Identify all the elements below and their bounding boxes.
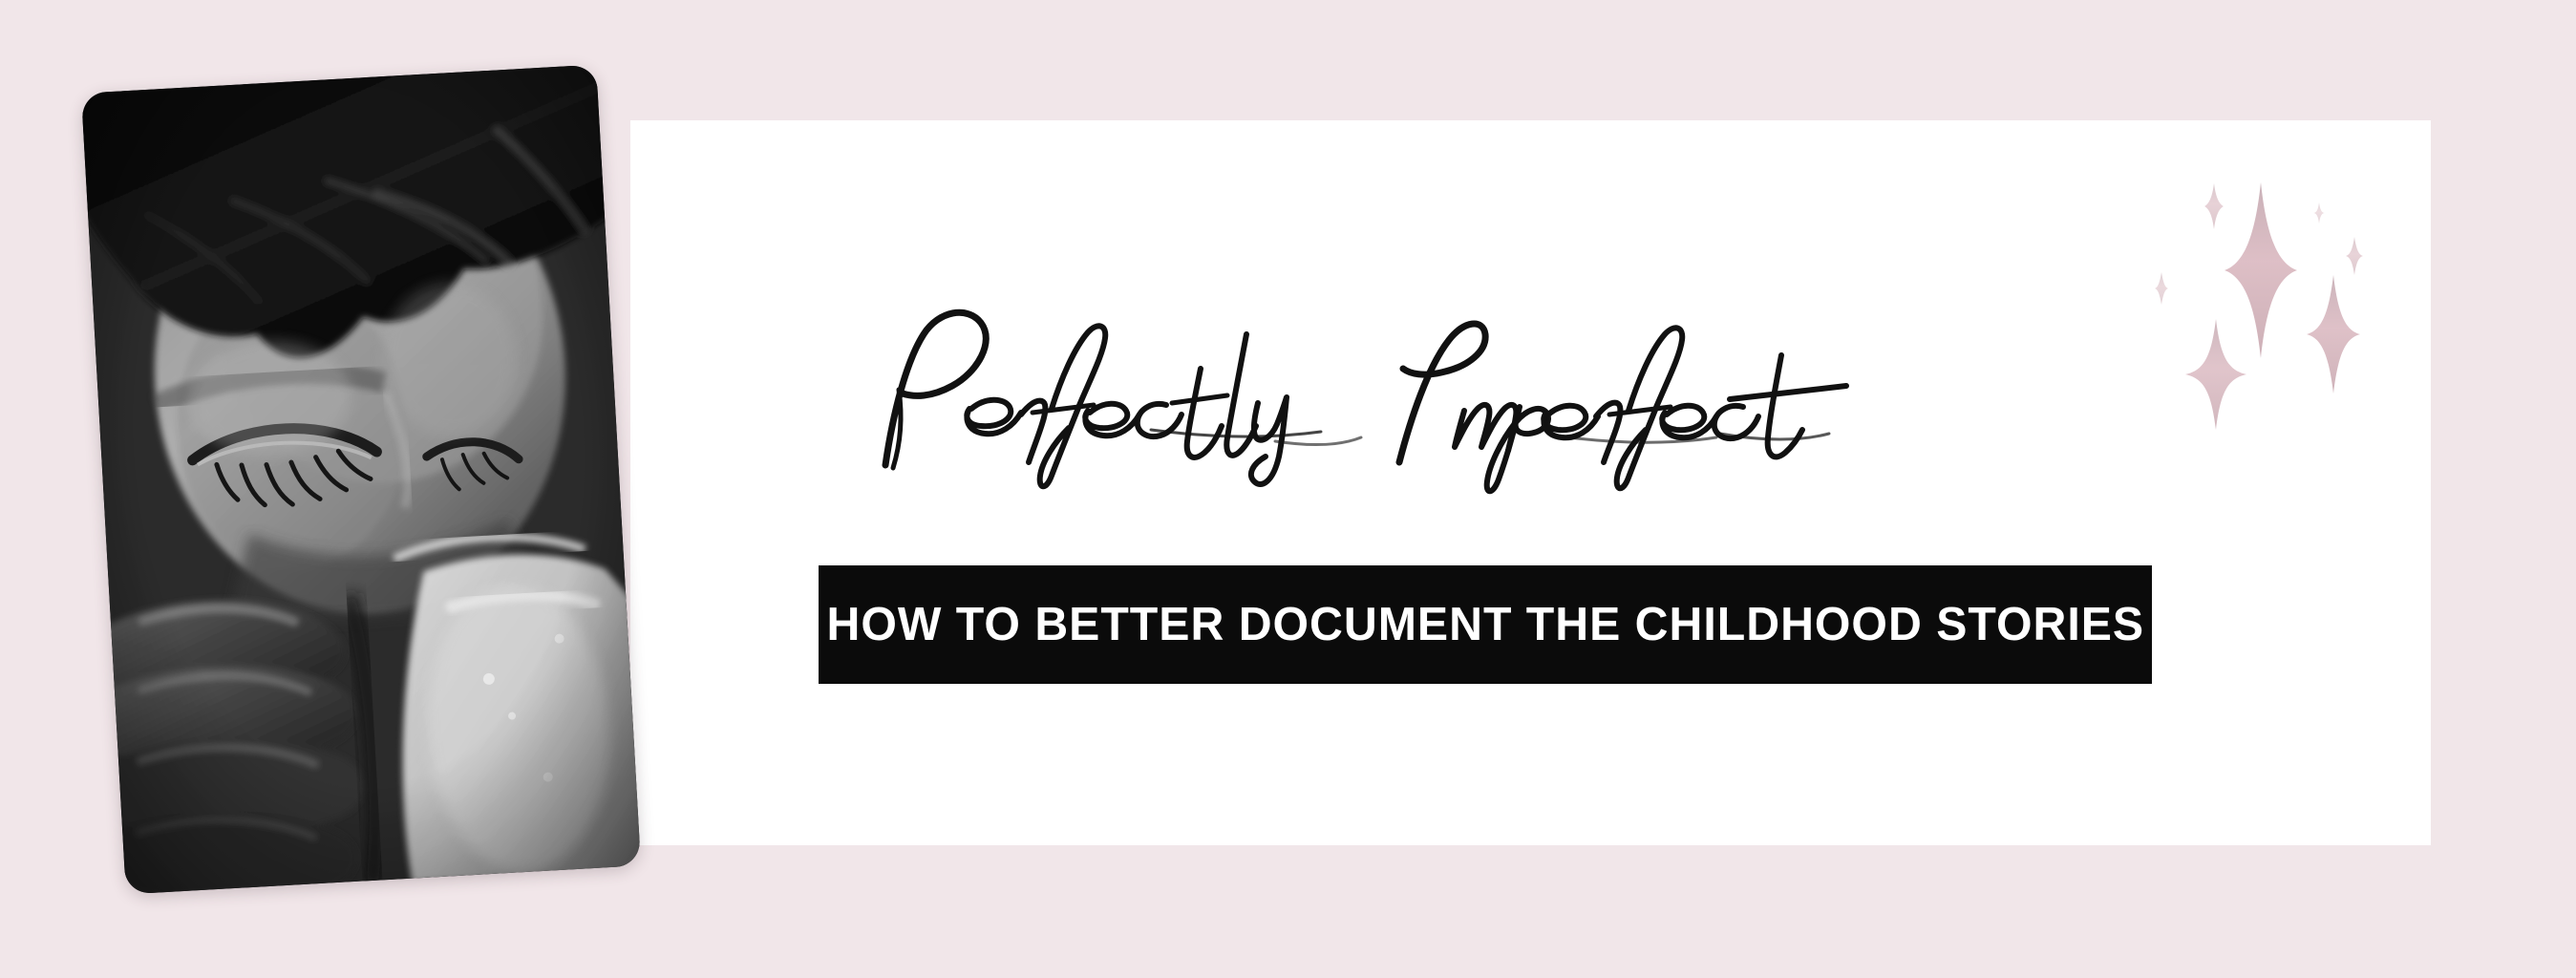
sparkle-tiny-farleft (2155, 272, 2168, 305)
content-card: Perfectly Imperfect (630, 120, 2431, 845)
sparkle-micro (2313, 202, 2325, 223)
sparkle-tiny-right (2346, 237, 2363, 275)
sparkle-small-left (2185, 319, 2246, 430)
sparkle-large (2225, 182, 2297, 358)
script-heading: Perfectly Imperfect (864, 298, 2097, 499)
subtitle-banner-text: HOW TO BETTER DOCUMENT THE CHILDHOOD STO… (826, 598, 2144, 651)
child-drinking-photo-artwork: Black and white photo of a young child w… (81, 65, 641, 895)
sparkle-tiny-topleft (2204, 183, 2224, 229)
photo-frame: Black and white photo of a young child w… (81, 65, 641, 895)
poster-canvas: Perfectly Imperfect (0, 0, 2576, 978)
sparkle-cluster (2130, 122, 2436, 443)
sparkle-medium (2307, 275, 2360, 393)
script-heading-artwork: Perfectly Imperfect (864, 298, 2097, 499)
sparkle-cluster-artwork (2130, 122, 2436, 443)
child-drinking-photo: Black and white photo of a young child w… (81, 65, 641, 895)
subtitle-banner: HOW TO BETTER DOCUMENT THE CHILDHOOD STO… (819, 565, 2152, 684)
